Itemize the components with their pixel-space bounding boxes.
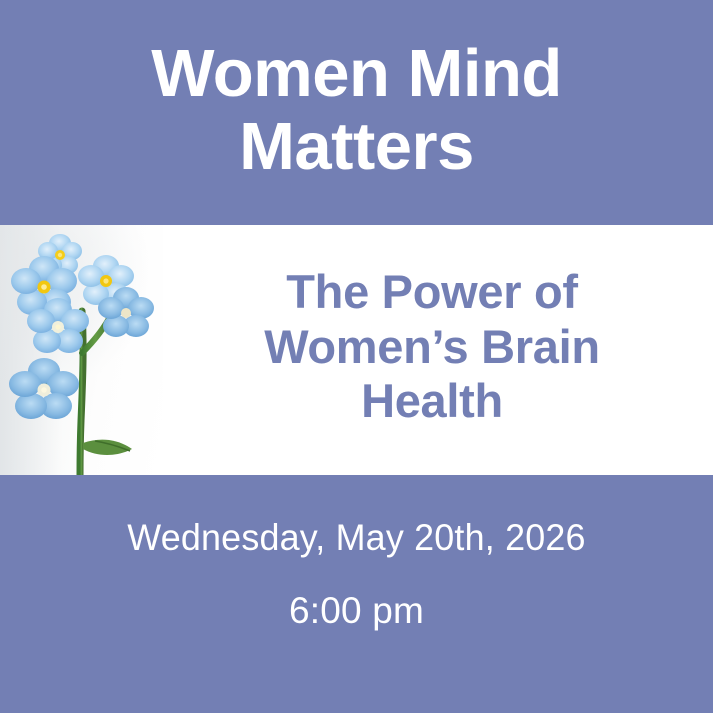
event-time: 6:00 pm [0, 592, 713, 629]
forget-me-not-illustration [0, 225, 163, 475]
flower-image [0, 225, 163, 475]
title-band: Women Mind Matters [0, 0, 713, 225]
event-subtitle: The Power of Women’s Brain Health [264, 265, 600, 430]
event-flyer: Women Mind Matters [0, 0, 713, 713]
datetime-band: Wednesday, May 20th, 2026 6:00 pm [0, 475, 713, 713]
page-title: Women Mind Matters [77, 38, 637, 183]
subtitle-container: The Power of Women’s Brain Health [163, 225, 713, 475]
event-date: Wednesday, May 20th, 2026 [11, 519, 703, 556]
subtitle-band: The Power of Women’s Brain Health [0, 225, 713, 475]
